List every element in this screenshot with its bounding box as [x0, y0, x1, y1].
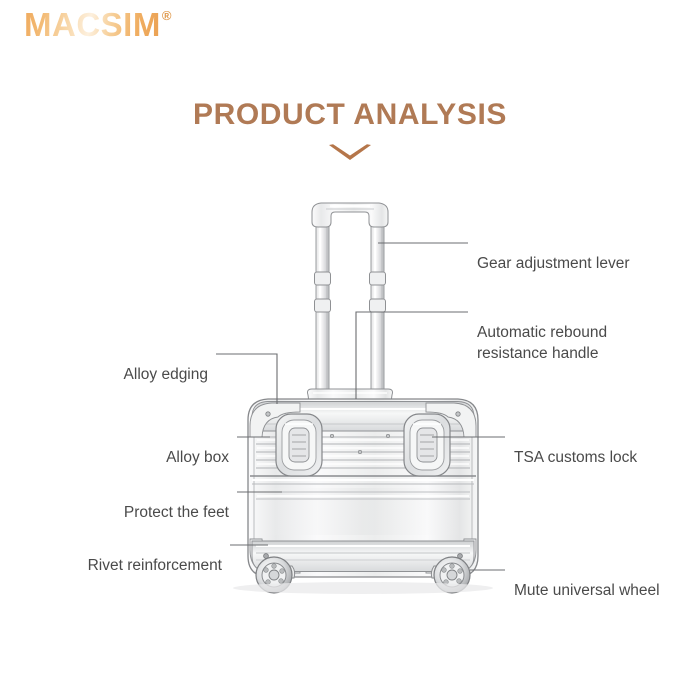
callout-label: Mute universal wheel — [514, 582, 660, 599]
callout-label: Rivet reinforcement — [88, 557, 222, 574]
callout-label: Gear adjustment lever — [477, 255, 630, 272]
callout-alloy-box: Alloy box — [166, 428, 229, 469]
callout-automatic-rebound-handle: Automatic rebound resistance handle — [477, 303, 607, 364]
callout-label: Automatic rebound resistance handle — [477, 324, 607, 361]
tsa-lock-left — [276, 414, 322, 476]
callout-label: Alloy edging — [124, 366, 208, 383]
callout-tsa-customs-lock: TSA customs lock — [514, 428, 637, 469]
product-analysis-page: MACSIM ® PRODUCT ANALYSIS — [0, 0, 700, 700]
brand-wordmark: MACSIM — [24, 8, 161, 41]
brand-logo: MACSIM ® — [24, 8, 171, 41]
page-title: PRODUCT ANALYSIS — [0, 98, 700, 132]
wheel-right — [431, 557, 470, 593]
tsa-lock-right — [404, 414, 450, 476]
wheel-left — [256, 557, 295, 593]
callout-gear-adjustment-lever: Gear adjustment lever — [477, 234, 630, 275]
registered-trademark-icon: ® — [162, 9, 172, 22]
leader-automatic-rebound-handle — [356, 312, 468, 399]
callout-label: Alloy box — [166, 449, 229, 466]
callout-label: TSA customs lock — [514, 449, 637, 466]
callout-mute-universal-wheel: Mute universal wheel — [514, 561, 660, 602]
callout-rivet-reinforcement: Rivet reinforcement — [88, 536, 222, 577]
callout-label: Protect the feet — [124, 504, 229, 521]
chevron-down-icon — [0, 142, 700, 164]
leader-alloy-edging — [216, 354, 277, 404]
callout-alloy-edging: Alloy edging — [124, 345, 208, 386]
callout-protect-the-feet: Protect the feet — [124, 483, 229, 524]
